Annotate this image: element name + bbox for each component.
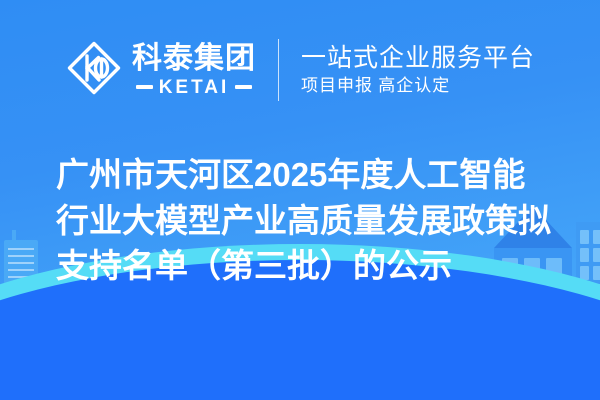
page-title: 广州市天河区2025年度人工智能行业大模型产业高质量发展政策拟支持名单（第三批）…: [56, 152, 556, 289]
wordmark-dash-left-icon: [136, 85, 153, 89]
brand-name-cn: 科泰集团: [132, 44, 256, 74]
brand-name-en: KETAI: [159, 78, 230, 97]
brand-tagline: 一站式企业服务平台 项目申报 高企认定: [301, 45, 535, 94]
brand-name-en-row: KETAI: [136, 78, 253, 97]
header-divider: [278, 39, 279, 101]
brand-logo[interactable]: 科泰集团 KETAI: [65, 39, 256, 102]
ketai-diamond-logo-icon: [65, 39, 123, 102]
banner-header: 科泰集团 KETAI 一站式企业服务平台 项目申报 高企认定: [0, 0, 600, 140]
tagline-primary: 一站式企业服务平台: [301, 45, 535, 71]
brand-wordmark: 科泰集团 KETAI: [132, 44, 256, 97]
wordmark-dash-right-icon: [235, 85, 252, 89]
tagline-secondary: 项目申报 高企认定: [301, 77, 535, 95]
page-title-block: 广州市天河区2025年度人工智能行业大模型产业高质量发展政策拟支持名单（第三批）…: [56, 152, 556, 289]
announcement-banner: 科泰集团 KETAI 一站式企业服务平台 项目申报 高企认定 广州市天河区202…: [0, 0, 600, 400]
building-left-tower-antenna: [12, 230, 16, 240]
